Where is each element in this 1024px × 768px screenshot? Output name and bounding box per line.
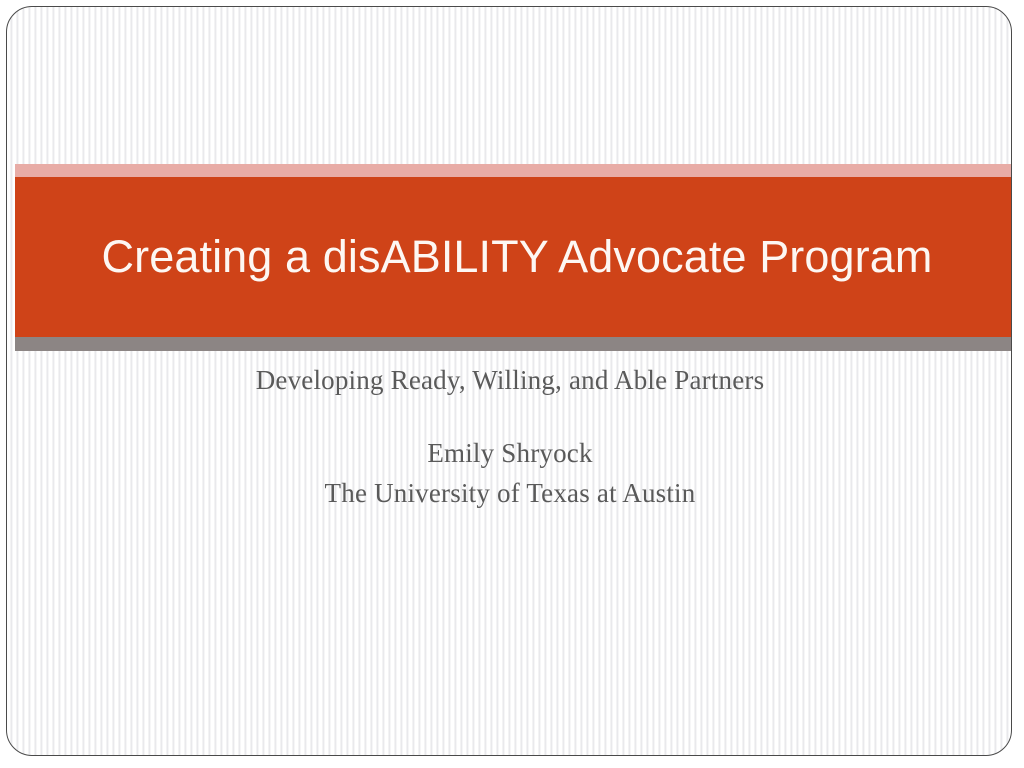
slide-frame: Creating a disABILITY Advocate Program D…: [6, 6, 1012, 756]
banner-accent-light-stripe: [15, 164, 1012, 177]
slide-body: Developing Ready, Willing, and Able Part…: [7, 363, 1012, 514]
author-name: Emily Shryock: [7, 433, 1012, 474]
author-affiliation: The University of Texas at Austin: [7, 473, 1012, 514]
title-banner: Creating a disABILITY Advocate Program: [15, 164, 1012, 351]
banner-title-bar: Creating a disABILITY Advocate Program: [15, 177, 1012, 337]
slide-subtitle: Developing Ready, Willing, and Able Part…: [7, 363, 1012, 398]
presentation-slide: Creating a disABILITY Advocate Program D…: [0, 0, 1024, 768]
slide-title: Creating a disABILITY Advocate Program: [78, 232, 957, 282]
banner-shadow-stripe: [15, 337, 1012, 351]
body-spacer: [7, 398, 1012, 433]
